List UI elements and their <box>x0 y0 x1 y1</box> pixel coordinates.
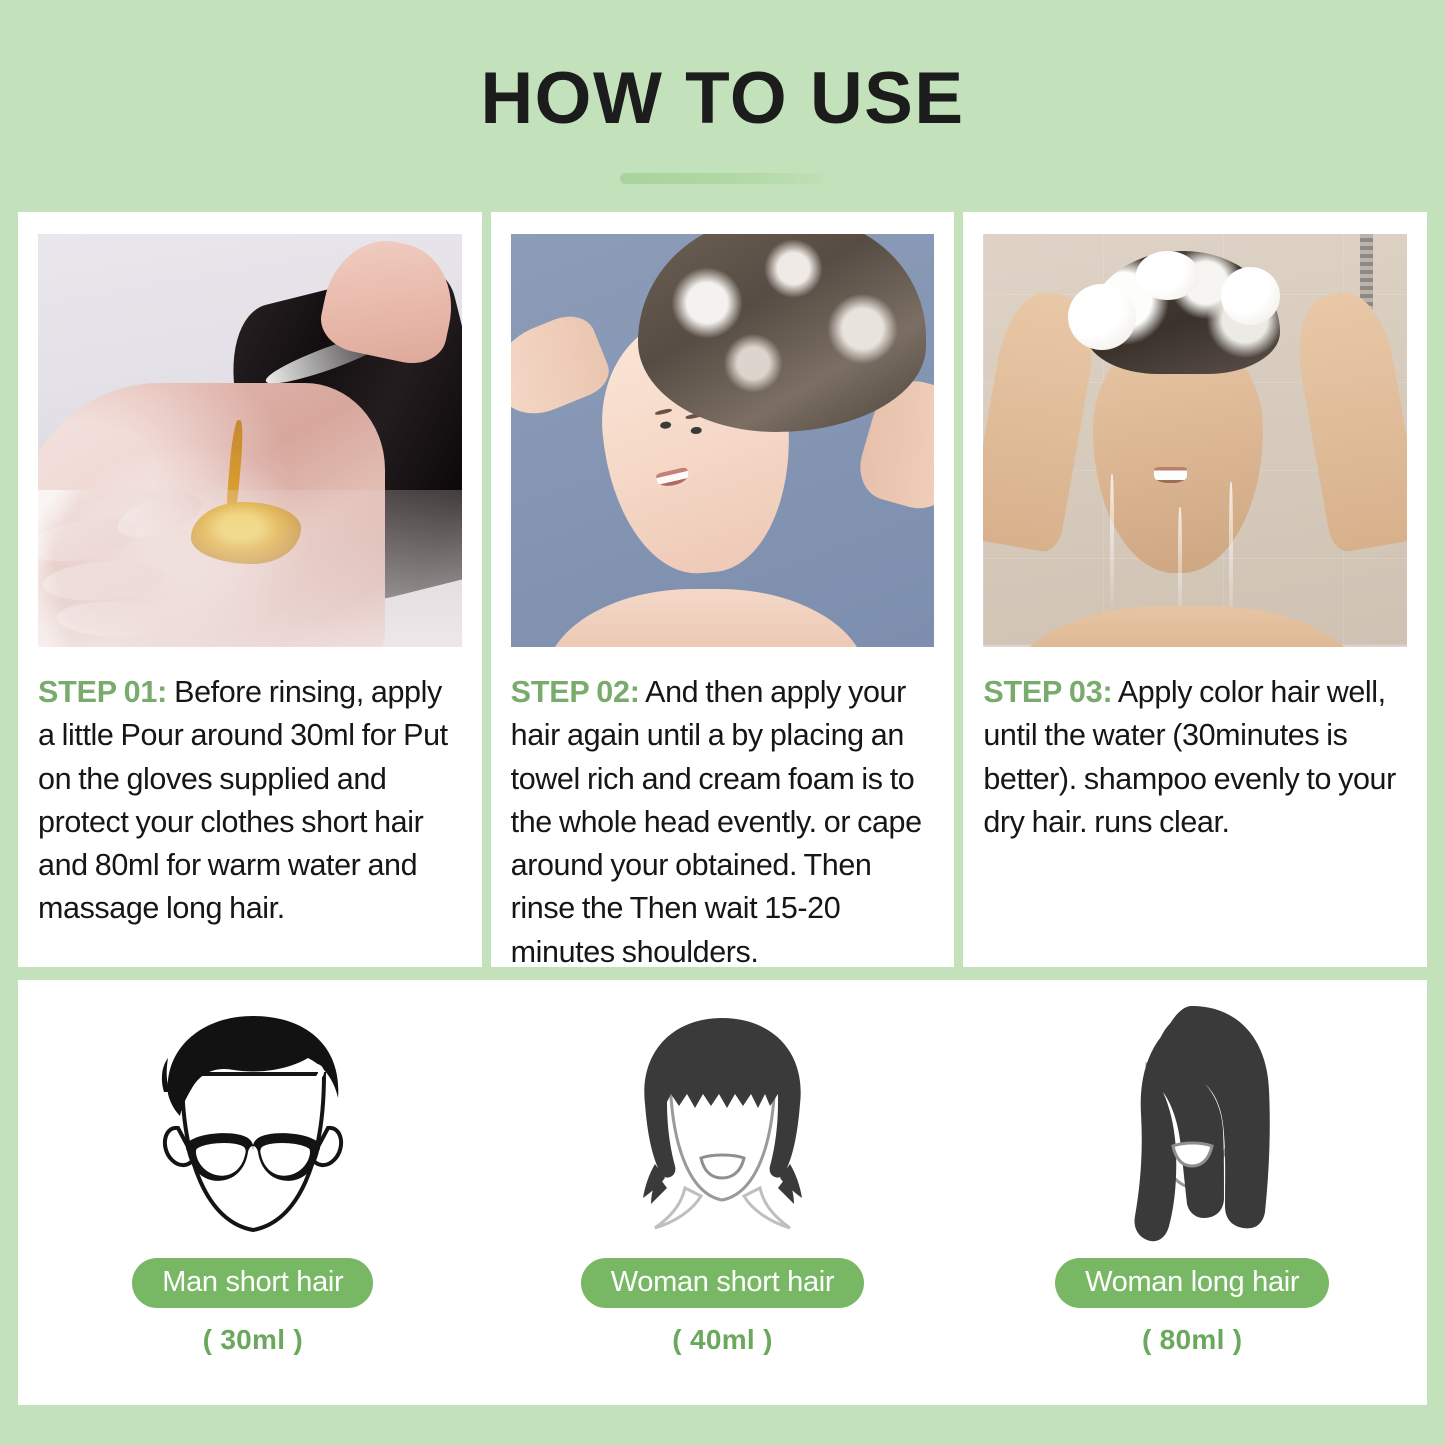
persona-woman-short-hair: Woman short hair ( 40ml ) <box>488 980 958 1405</box>
step-2-body: And then apply your hair again until a b… <box>511 675 922 969</box>
shoulder-shape <box>545 589 867 647</box>
woman-short-hair-icon <box>598 998 848 1248</box>
man-short-hair-icon <box>128 998 378 1248</box>
step-2-photo <box>511 234 935 647</box>
header: HOW TO USE <box>0 0 1445 212</box>
woman-long-hair-icon <box>1067 998 1317 1248</box>
water-drip-shape <box>1178 507 1182 623</box>
persona-woman-long-hair: Woman long hair ( 80ml ) <box>957 980 1427 1405</box>
step-card-3: STEP 03: Apply color hair well, until th… <box>963 212 1427 967</box>
foam-shape <box>1068 284 1136 350</box>
eye-shape <box>660 421 672 429</box>
step-1-label: STEP 01: <box>38 675 167 709</box>
step-card-2: STEP 02: And then apply your hair again … <box>491 212 955 967</box>
step-1-description: STEP 01: Before rinsing, apply a little … <box>38 671 462 931</box>
title-underline-rule <box>620 173 825 184</box>
smile-shape <box>656 467 690 489</box>
foam-shape <box>1136 251 1200 301</box>
step-1-body: Before rinsing, apply a little Pour arou… <box>38 675 448 925</box>
persona-volume-woman-long-hair: ( 80ml ) <box>1142 1324 1242 1356</box>
step-2-description: STEP 02: And then apply your hair again … <box>511 671 935 974</box>
persona-label-woman-short-hair[interactable]: Woman short hair <box>581 1258 865 1308</box>
persona-label-man-short-hair[interactable]: Man short hair <box>132 1258 373 1308</box>
arm-shape <box>511 307 616 425</box>
eye-shape <box>690 426 702 434</box>
step-card-1: STEP 01: Before rinsing, apply a little … <box>18 212 482 967</box>
water-drip-shape <box>1110 474 1114 606</box>
persona-volume-man-short-hair: ( 30ml ) <box>203 1324 303 1356</box>
lathered-hair-shape <box>638 234 926 432</box>
foam-shape <box>1221 267 1280 325</box>
eyebrow-shape <box>655 407 672 415</box>
how-to-use-infographic: HOW TO USE STEP 01: Before rinsing, appl… <box>0 0 1445 1445</box>
smile-shape <box>1154 467 1186 483</box>
step-3-label: STEP 03: <box>983 675 1112 709</box>
page-title: HOW TO USE <box>480 62 964 135</box>
step-3-description: STEP 03: Apply color hair well, until th… <box>983 671 1407 844</box>
step-2-label: STEP 02: <box>511 675 640 709</box>
step-3-photo <box>983 234 1407 647</box>
step-cards-row: STEP 01: Before rinsing, apply a little … <box>18 212 1427 967</box>
step-1-photo <box>38 234 462 647</box>
dosage-panel: Man short hair ( 30ml ) Woman short hair <box>18 980 1427 1405</box>
water-drip-shape <box>1229 482 1233 622</box>
persona-label-woman-long-hair[interactable]: Woman long hair <box>1055 1258 1329 1308</box>
plastic-wrap-shape <box>38 490 462 647</box>
persona-man-short-hair: Man short hair ( 30ml ) <box>18 980 488 1405</box>
persona-volume-woman-short-hair: ( 40ml ) <box>672 1324 772 1356</box>
